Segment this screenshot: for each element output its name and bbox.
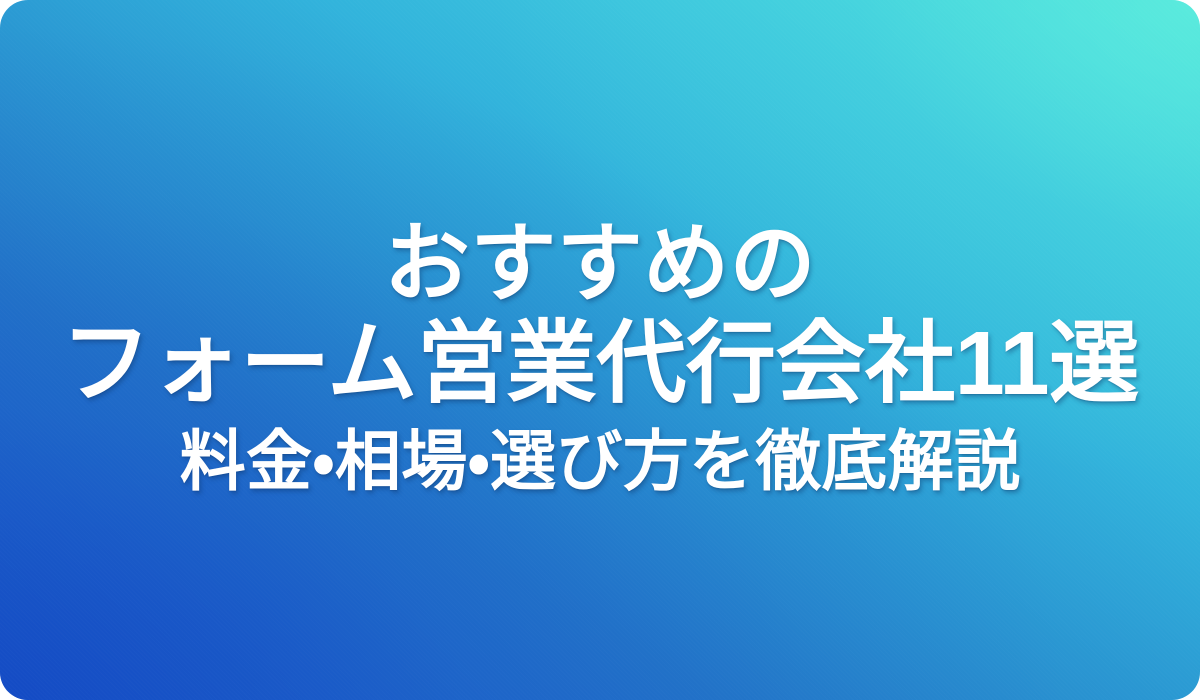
page-title: おすすめの フォーム営業代行会社11選	[10, 216, 1190, 415]
page-subtitle: 料金・相場・選び方を徹底解説	[10, 423, 1190, 501]
subtitle-line-1: 料金・相場・選び方を徹底解説	[10, 423, 1190, 501]
article-hero-banner: おすすめの フォーム営業代行会社11選 料金・相場・選び方を徹底解説	[0, 0, 1200, 700]
title-line-2: フォーム営業代行会社11選	[10, 314, 1190, 415]
hero-text-block: おすすめの フォーム営業代行会社11選 料金・相場・選び方を徹底解説	[0, 216, 1200, 501]
title-line-1: おすすめの	[10, 216, 1190, 312]
